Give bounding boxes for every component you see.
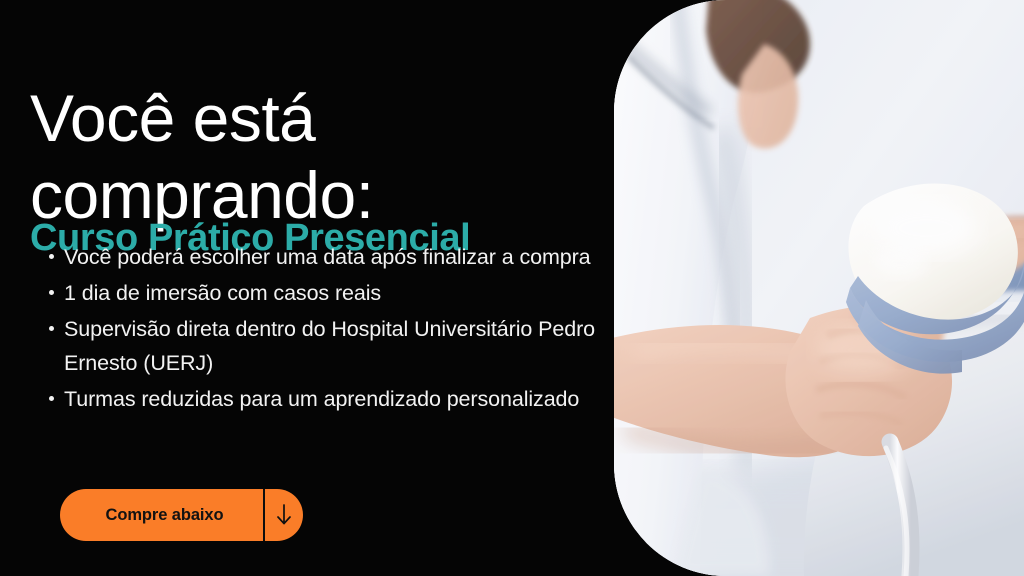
arrow-down-glyph [276, 504, 292, 526]
hero-photo [614, 0, 1024, 576]
arrow-down-icon[interactable] [265, 489, 303, 541]
list-item: Turmas reduzidas para um aprendizado per… [36, 382, 596, 417]
text-content-panel: Você está comprando: Curso Prático Prese… [0, 0, 620, 576]
course-benefits-list: Você poderá escolher uma data após final… [36, 240, 596, 418]
list-item: 1 dia de imersão com casos reais [36, 276, 596, 311]
list-item: Você poderá escolher uma data após final… [36, 240, 596, 275]
buy-below-label: Compre abaixo [60, 489, 263, 541]
hero-photo-illustration [614, 0, 1024, 576]
promo-slide: Você está comprando: Curso Prático Prese… [0, 0, 1024, 576]
page-title: Você está comprando: [30, 80, 610, 234]
buy-below-button[interactable]: Compre abaixo [60, 489, 303, 541]
list-item: Supervisão direta dentro do Hospital Uni… [36, 312, 596, 382]
